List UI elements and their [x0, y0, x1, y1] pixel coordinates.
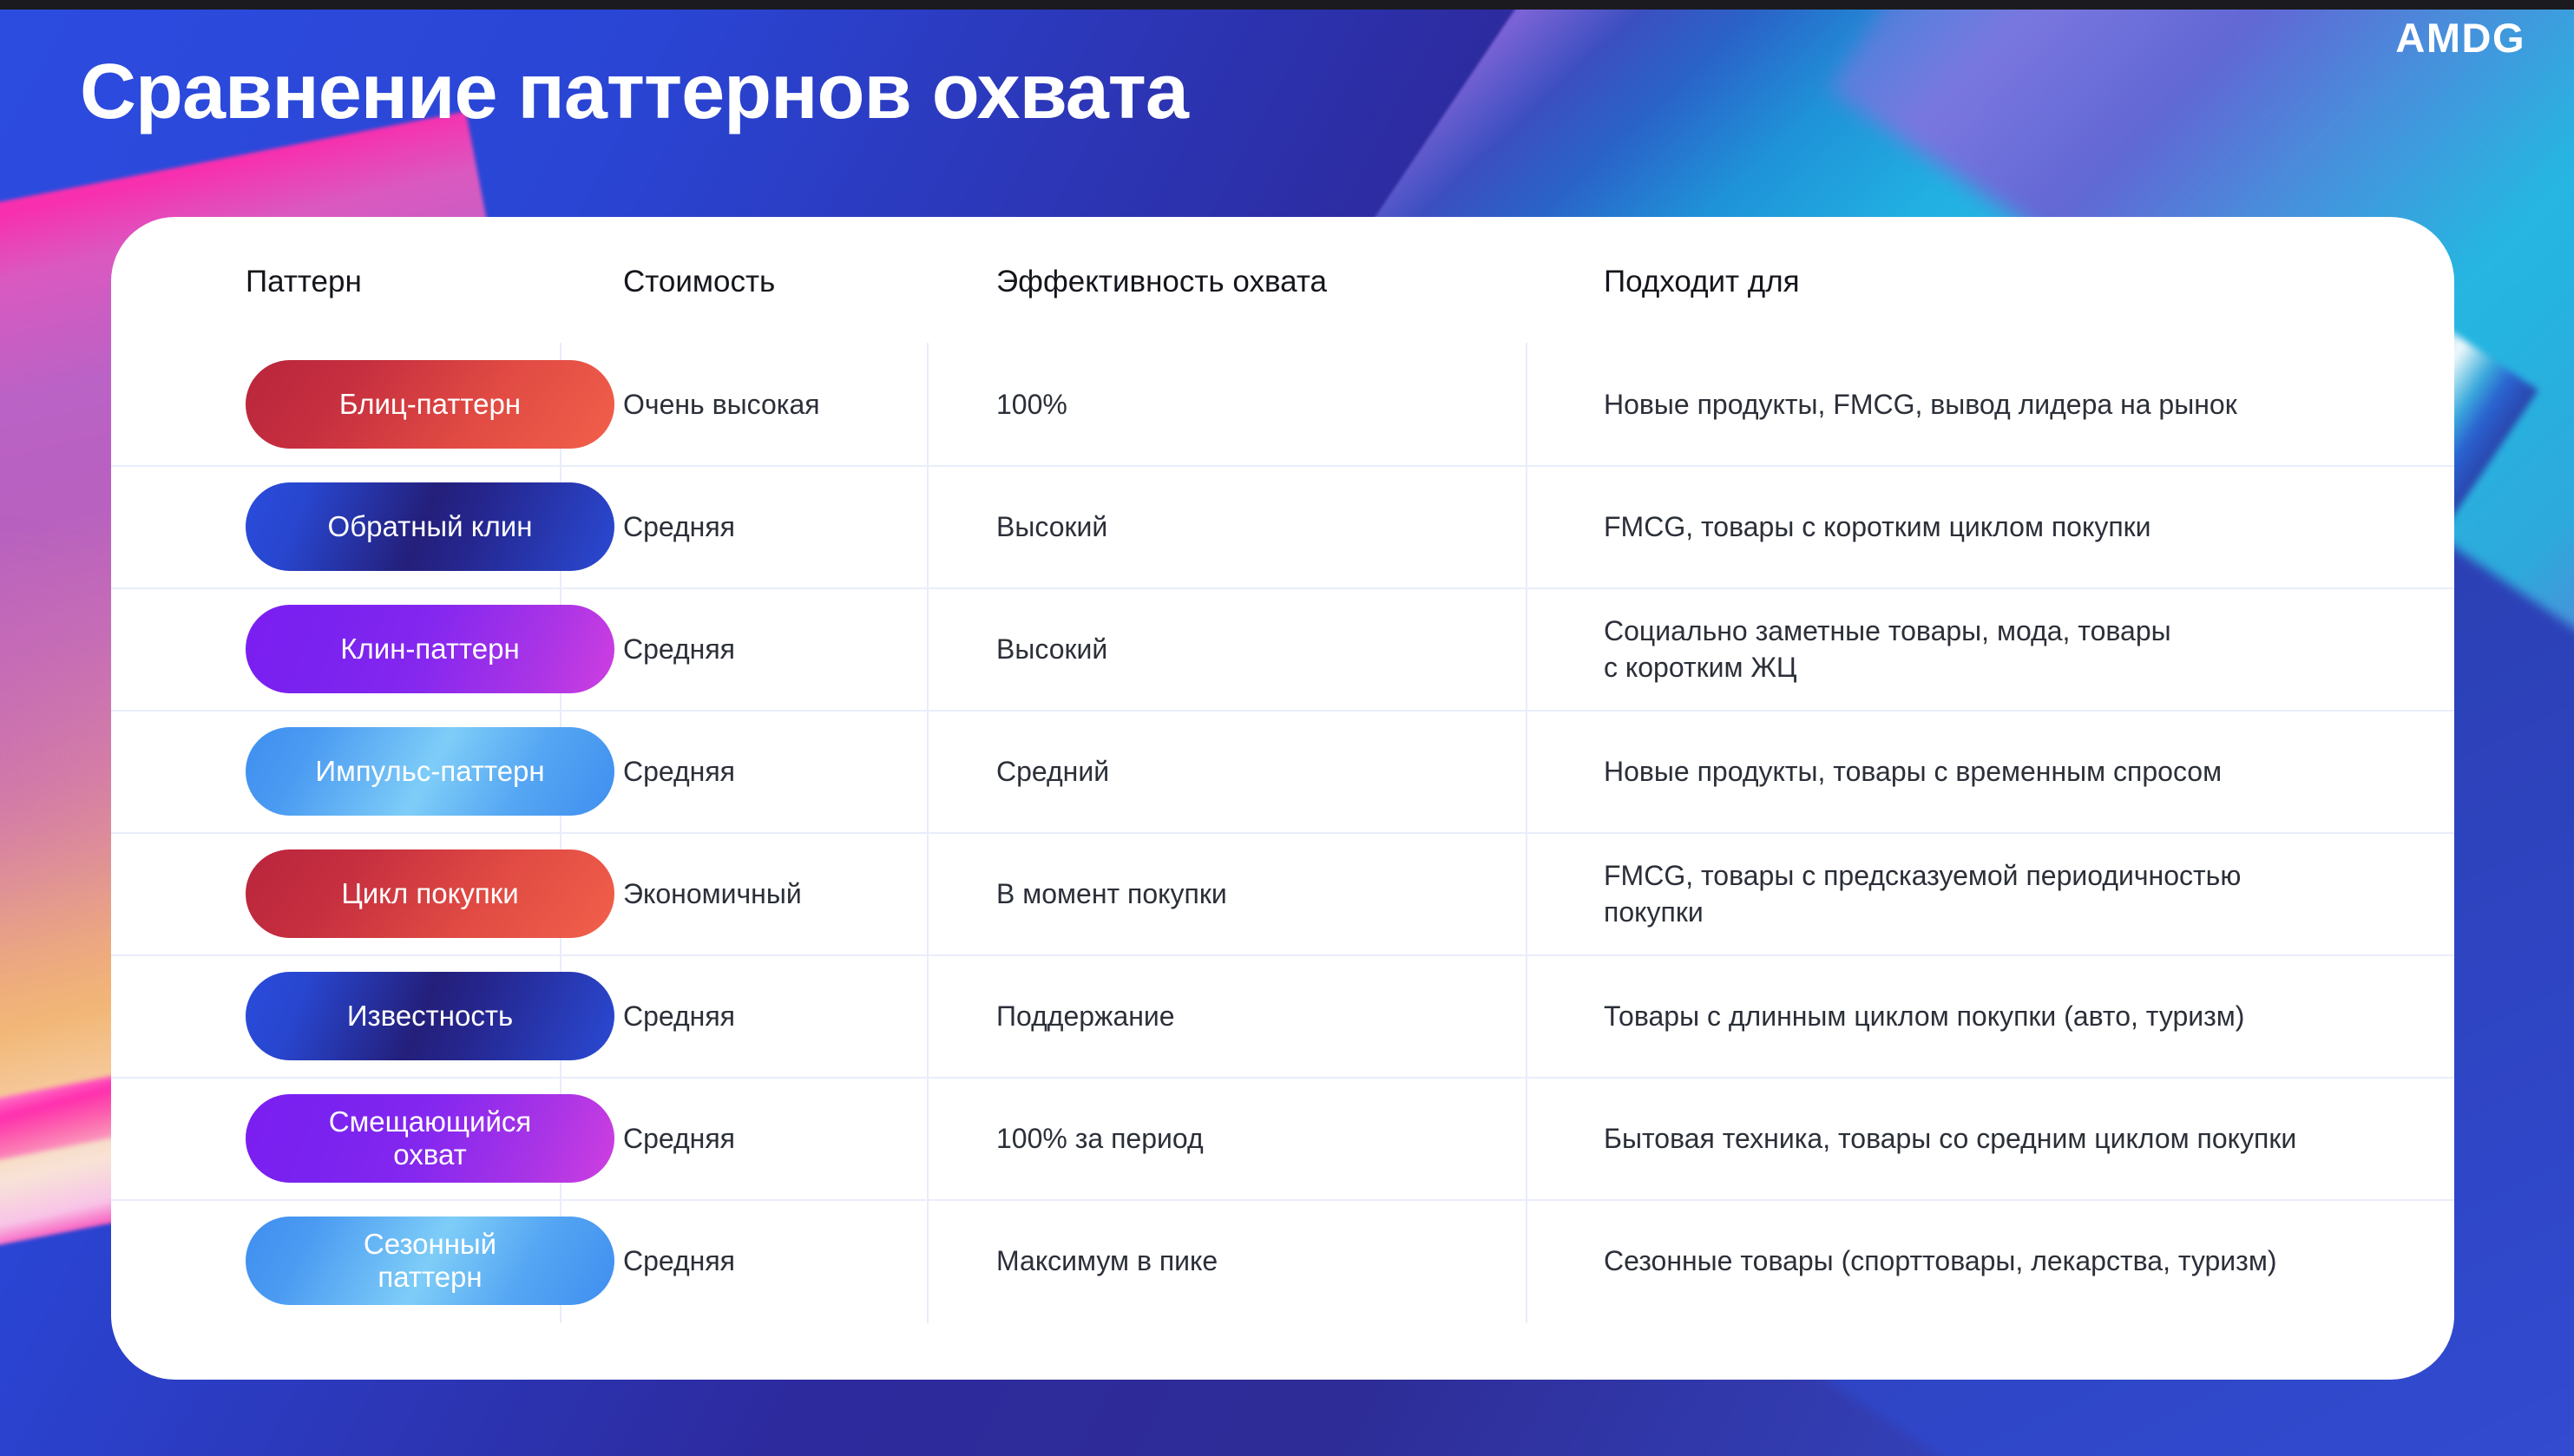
comparison-card: Паттерн Стоимость Эффективность охвата П… — [111, 217, 2454, 1380]
column-header-fits-for: Подходит для — [1604, 265, 1800, 299]
row-divider — [111, 832, 2454, 834]
pattern-badge[interactable]: Обратный клин — [246, 482, 614, 571]
pattern-badge[interactable]: Импульс-паттерн — [246, 727, 614, 816]
pattern-badge[interactable]: Блиц-паттерн — [246, 360, 614, 449]
cost-value: Средняя — [623, 752, 909, 789]
fits-for-value: FMCG, товары с коротким циклом покупки — [1604, 508, 2420, 544]
fits-for-value: Новые продукты, FMCG, вывод лидера на ры… — [1604, 385, 2420, 422]
effectiveness-value: Высокий — [996, 630, 1500, 666]
row-divider — [111, 954, 2454, 956]
fits-for-value: FMCG, товары с предсказуемой периодичнос… — [1604, 856, 2420, 929]
table-row: СезонныйпаттернСредняяМаксимум в пикеСез… — [111, 1199, 2454, 1322]
table-row: Цикл покупкиЭкономичныйВ момент покупкиF… — [111, 832, 2454, 954]
effectiveness-value: В момент покупки — [996, 875, 1500, 911]
pattern-badge[interactable]: Цикл покупки — [246, 849, 614, 938]
effectiveness-value: Поддержание — [996, 997, 1500, 1033]
slide-canvas: AMDG Сравнение паттернов охвата Паттерн … — [0, 0, 2574, 1456]
cost-value: Средняя — [623, 630, 909, 666]
fits-for-value: Товары с длинным циклом покупки (авто, т… — [1604, 997, 2420, 1033]
column-header-pattern: Паттерн — [246, 265, 362, 299]
pattern-badge[interactable]: Известность — [246, 972, 614, 1060]
pattern-badge[interactable]: Клин-паттерн — [246, 605, 614, 693]
cost-value: Экономичный — [623, 875, 909, 911]
table-row: Обратный клинСредняяВысокийFMCG, товары … — [111, 465, 2454, 587]
table-row: ИзвестностьСредняяПоддержаниеТовары с дл… — [111, 954, 2454, 1077]
fits-for-value: Новые продукты, товары с временным спрос… — [1604, 752, 2420, 789]
pattern-badge[interactable]: Сезонныйпаттерн — [246, 1217, 614, 1305]
table-row: Импульс-паттернСредняяСреднийНовые проду… — [111, 710, 2454, 832]
row-divider — [111, 465, 2454, 467]
effectiveness-value: Высокий — [996, 508, 1500, 544]
table-header-row: Паттерн Стоимость Эффективность охвата П… — [111, 217, 2454, 343]
table-row: Блиц-паттернОчень высокая100%Новые проду… — [111, 343, 2454, 465]
cost-value: Очень высокая — [623, 385, 909, 422]
comparison-table: Паттерн Стоимость Эффективность охвата П… — [111, 217, 2454, 1380]
column-header-effectiveness: Эффективность охвата — [996, 265, 1327, 299]
cost-value: Средняя — [623, 1119, 909, 1156]
fits-for-value: Бытовая техника, товары со средним цикло… — [1604, 1119, 2420, 1156]
cost-value: Средняя — [623, 508, 909, 544]
row-divider — [111, 1199, 2454, 1201]
cost-value: Средняя — [623, 997, 909, 1033]
top-edge-strip — [0, 0, 2574, 10]
row-divider — [111, 1077, 2454, 1079]
table-row: Клин-паттернСредняяВысокийСоциально заме… — [111, 587, 2454, 710]
fits-for-value: Сезонные товары (спорттовары, лекарства,… — [1604, 1242, 2420, 1278]
pattern-badge[interactable]: Смещающийсяохват — [246, 1094, 614, 1183]
fits-for-value: Социально заметные товары, мода, товарыс… — [1604, 612, 2420, 685]
table-row: СмещающийсяохватСредняя100% за периодБыт… — [111, 1077, 2454, 1199]
effectiveness-value: 100% за период — [996, 1119, 1500, 1156]
row-divider — [111, 710, 2454, 712]
effectiveness-value: 100% — [996, 385, 1500, 422]
row-divider — [111, 587, 2454, 589]
cost-value: Средняя — [623, 1242, 909, 1278]
effectiveness-value: Максимум в пике — [996, 1242, 1500, 1278]
effectiveness-value: Средний — [996, 752, 1500, 789]
page-title: Сравнение паттернов охвата — [80, 50, 1188, 134]
amdg-logo: AMDG — [2395, 14, 2525, 62]
column-header-cost: Стоимость — [623, 265, 775, 299]
